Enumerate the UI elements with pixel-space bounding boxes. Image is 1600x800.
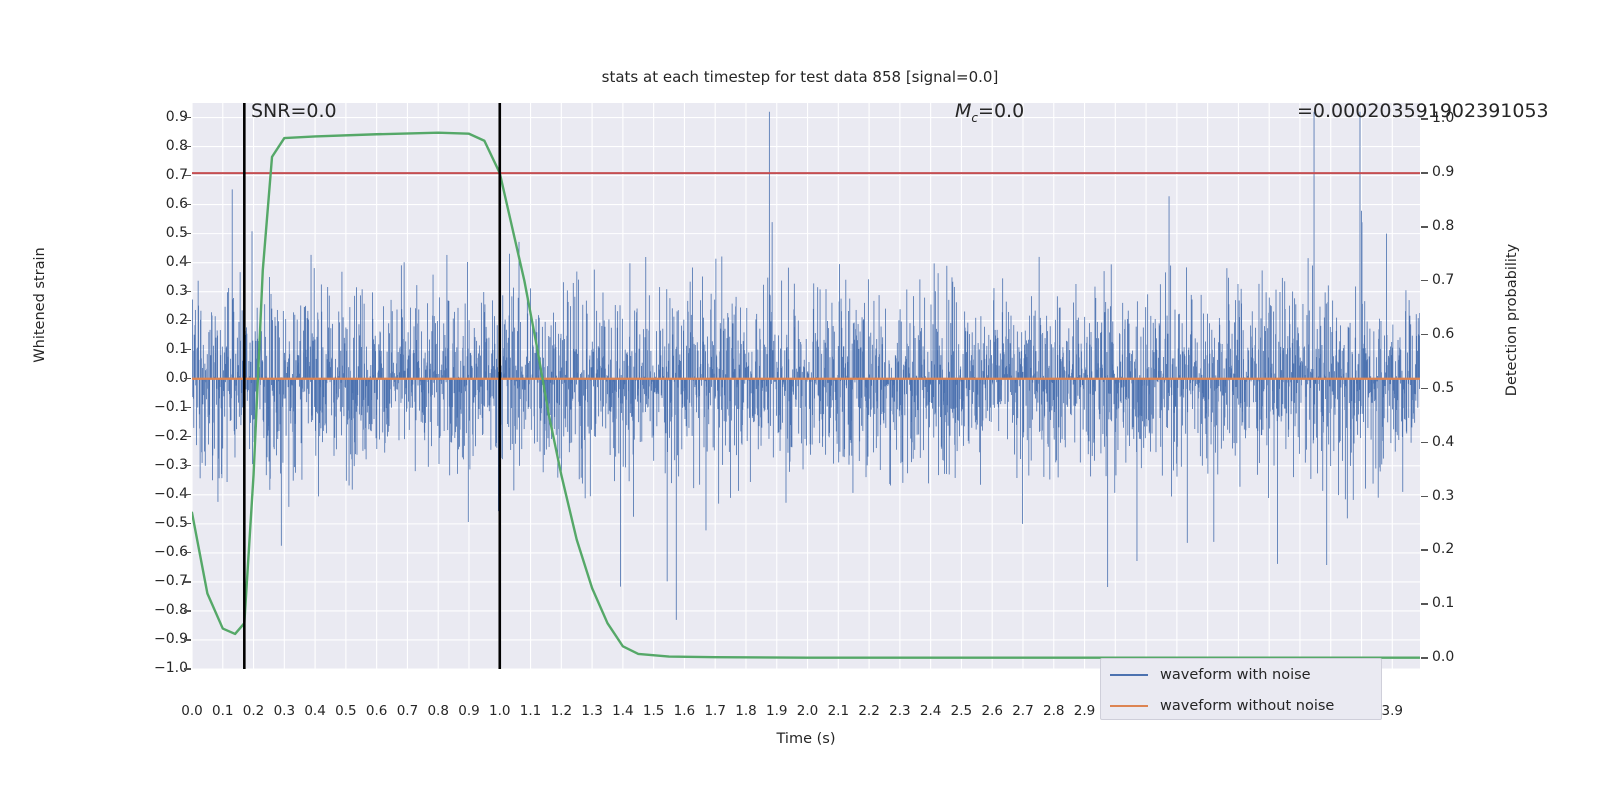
y-tick-mark-left — [184, 639, 191, 641]
y-tick-label-left: −0.7 — [68, 573, 188, 589]
y-tick-label-left: 0.9 — [68, 109, 188, 125]
y-tick-mark-right — [1421, 657, 1428, 659]
y-tick-mark-left — [184, 436, 191, 438]
y-axis-label-left: Whitened strain — [32, 205, 48, 405]
legend-label-waveform-with-noise: waveform with noise — [1160, 667, 1311, 683]
y-tick-label-left: 0.8 — [68, 138, 188, 154]
y-tick-label-right: 0.8 — [1432, 218, 1512, 234]
y-tick-label-left: −0.6 — [68, 544, 188, 560]
y-tick-mark-right — [1421, 280, 1428, 282]
y-tick-mark-right — [1421, 226, 1428, 228]
annotation-chirp-mass-equals: = — [978, 100, 994, 122]
legend: waveform with noise waveform without noi… — [1100, 658, 1382, 720]
y-tick-mark-left — [184, 668, 191, 670]
legend-item: waveform without noise — [1101, 690, 1381, 720]
annotation-snr: SNR=0.0 — [251, 100, 337, 122]
y-tick-label-right: 0.4 — [1432, 434, 1512, 450]
legend-label-waveform-without-noise: waveform without noise — [1160, 698, 1334, 714]
y-tick-mark-left — [184, 610, 191, 612]
y-tick-label-right: 0.7 — [1432, 272, 1512, 288]
annotation-score-equals: = — [1297, 100, 1313, 122]
y-tick-label-left: −0.2 — [68, 428, 188, 444]
y-tick-label-right: 0.5 — [1432, 380, 1512, 396]
plot-area — [192, 103, 1420, 669]
annotation-chirp-mass-value: 0.0 — [994, 100, 1024, 122]
chart-title: stats at each timestep for test data 858… — [0, 68, 1600, 86]
y-tick-label-left: −0.9 — [68, 631, 188, 647]
y-tick-label-left: 0.6 — [68, 196, 188, 212]
y-tick-mark-left — [184, 378, 191, 380]
annotation-score-value: 0.000203591902391053 — [1313, 100, 1549, 122]
annotation-score: =0.000203591902391053 — [1297, 100, 1549, 122]
x-axis-label: Time (s) — [192, 731, 1420, 747]
y-tick-mark-left — [184, 523, 191, 525]
y-tick-label-left: 0.1 — [68, 341, 188, 357]
y-tick-label-right: 0.2 — [1432, 541, 1512, 557]
y-tick-label-left: −0.4 — [68, 486, 188, 502]
annotation-chirp-mass: Mc=0.0 — [955, 100, 1024, 125]
y-tick-label-left: 0.5 — [68, 225, 188, 241]
y-tick-label-right: 0.9 — [1432, 164, 1512, 180]
y-tick-mark-right — [1421, 334, 1428, 336]
data-layer — [192, 103, 1420, 669]
matplotlib-figure: stats at each timestep for test data 858… — [0, 0, 1600, 800]
y-axis-label-right: Detection probability — [1504, 220, 1520, 420]
y-tick-label-left: 0.3 — [68, 283, 188, 299]
y-tick-mark-right — [1421, 172, 1428, 174]
y-tick-label-left: −0.3 — [68, 457, 188, 473]
y-tick-label-left: 0.4 — [68, 254, 188, 270]
y-tick-label-left: 0.7 — [68, 167, 188, 183]
y-tick-mark-left — [184, 581, 191, 583]
legend-item: waveform with noise — [1101, 659, 1381, 690]
y-tick-mark-left — [184, 552, 191, 554]
y-tick-label-right: 0.3 — [1432, 488, 1512, 504]
y-tick-mark-right — [1421, 442, 1428, 444]
y-tick-mark-left — [184, 291, 191, 293]
y-tick-mark-right — [1421, 603, 1428, 605]
y-tick-mark-left — [184, 349, 191, 351]
legend-swatch-waveform-with-noise — [1110, 674, 1148, 676]
y-tick-mark-left — [184, 465, 191, 467]
legend-swatch-waveform-without-noise — [1110, 705, 1148, 707]
y-tick-mark-left — [184, 320, 191, 322]
y-tick-label-left: 0.2 — [68, 312, 188, 328]
annotation-chirp-mass-symbol: M — [955, 100, 971, 122]
y-tick-mark-left — [184, 117, 191, 119]
y-tick-label-left: −0.8 — [68, 602, 188, 618]
y-tick-mark-right — [1421, 388, 1428, 390]
y-tick-mark-left — [184, 233, 191, 235]
y-tick-mark-left — [184, 494, 191, 496]
annotation-snr-label: SNR= — [251, 100, 306, 122]
y-tick-label-right: 0.6 — [1432, 326, 1512, 342]
y-tick-mark-left — [184, 175, 191, 177]
y-tick-mark-left — [184, 146, 191, 148]
y-tick-mark-right — [1421, 496, 1428, 498]
y-tick-label-right: 0.0 — [1432, 649, 1512, 665]
annotation-snr-value: 0.0 — [306, 100, 336, 122]
y-tick-mark-left — [184, 262, 191, 264]
y-tick-label-left: −1.0 — [68, 660, 188, 676]
y-tick-label-left: −0.5 — [68, 515, 188, 531]
y-tick-label-right: 0.1 — [1432, 595, 1512, 611]
y-tick-mark-left — [184, 204, 191, 206]
y-tick-label-left: −0.1 — [68, 399, 188, 415]
y-tick-mark-left — [184, 407, 191, 409]
y-tick-mark-right — [1421, 549, 1428, 551]
y-tick-label-left: 0.0 — [68, 370, 188, 386]
